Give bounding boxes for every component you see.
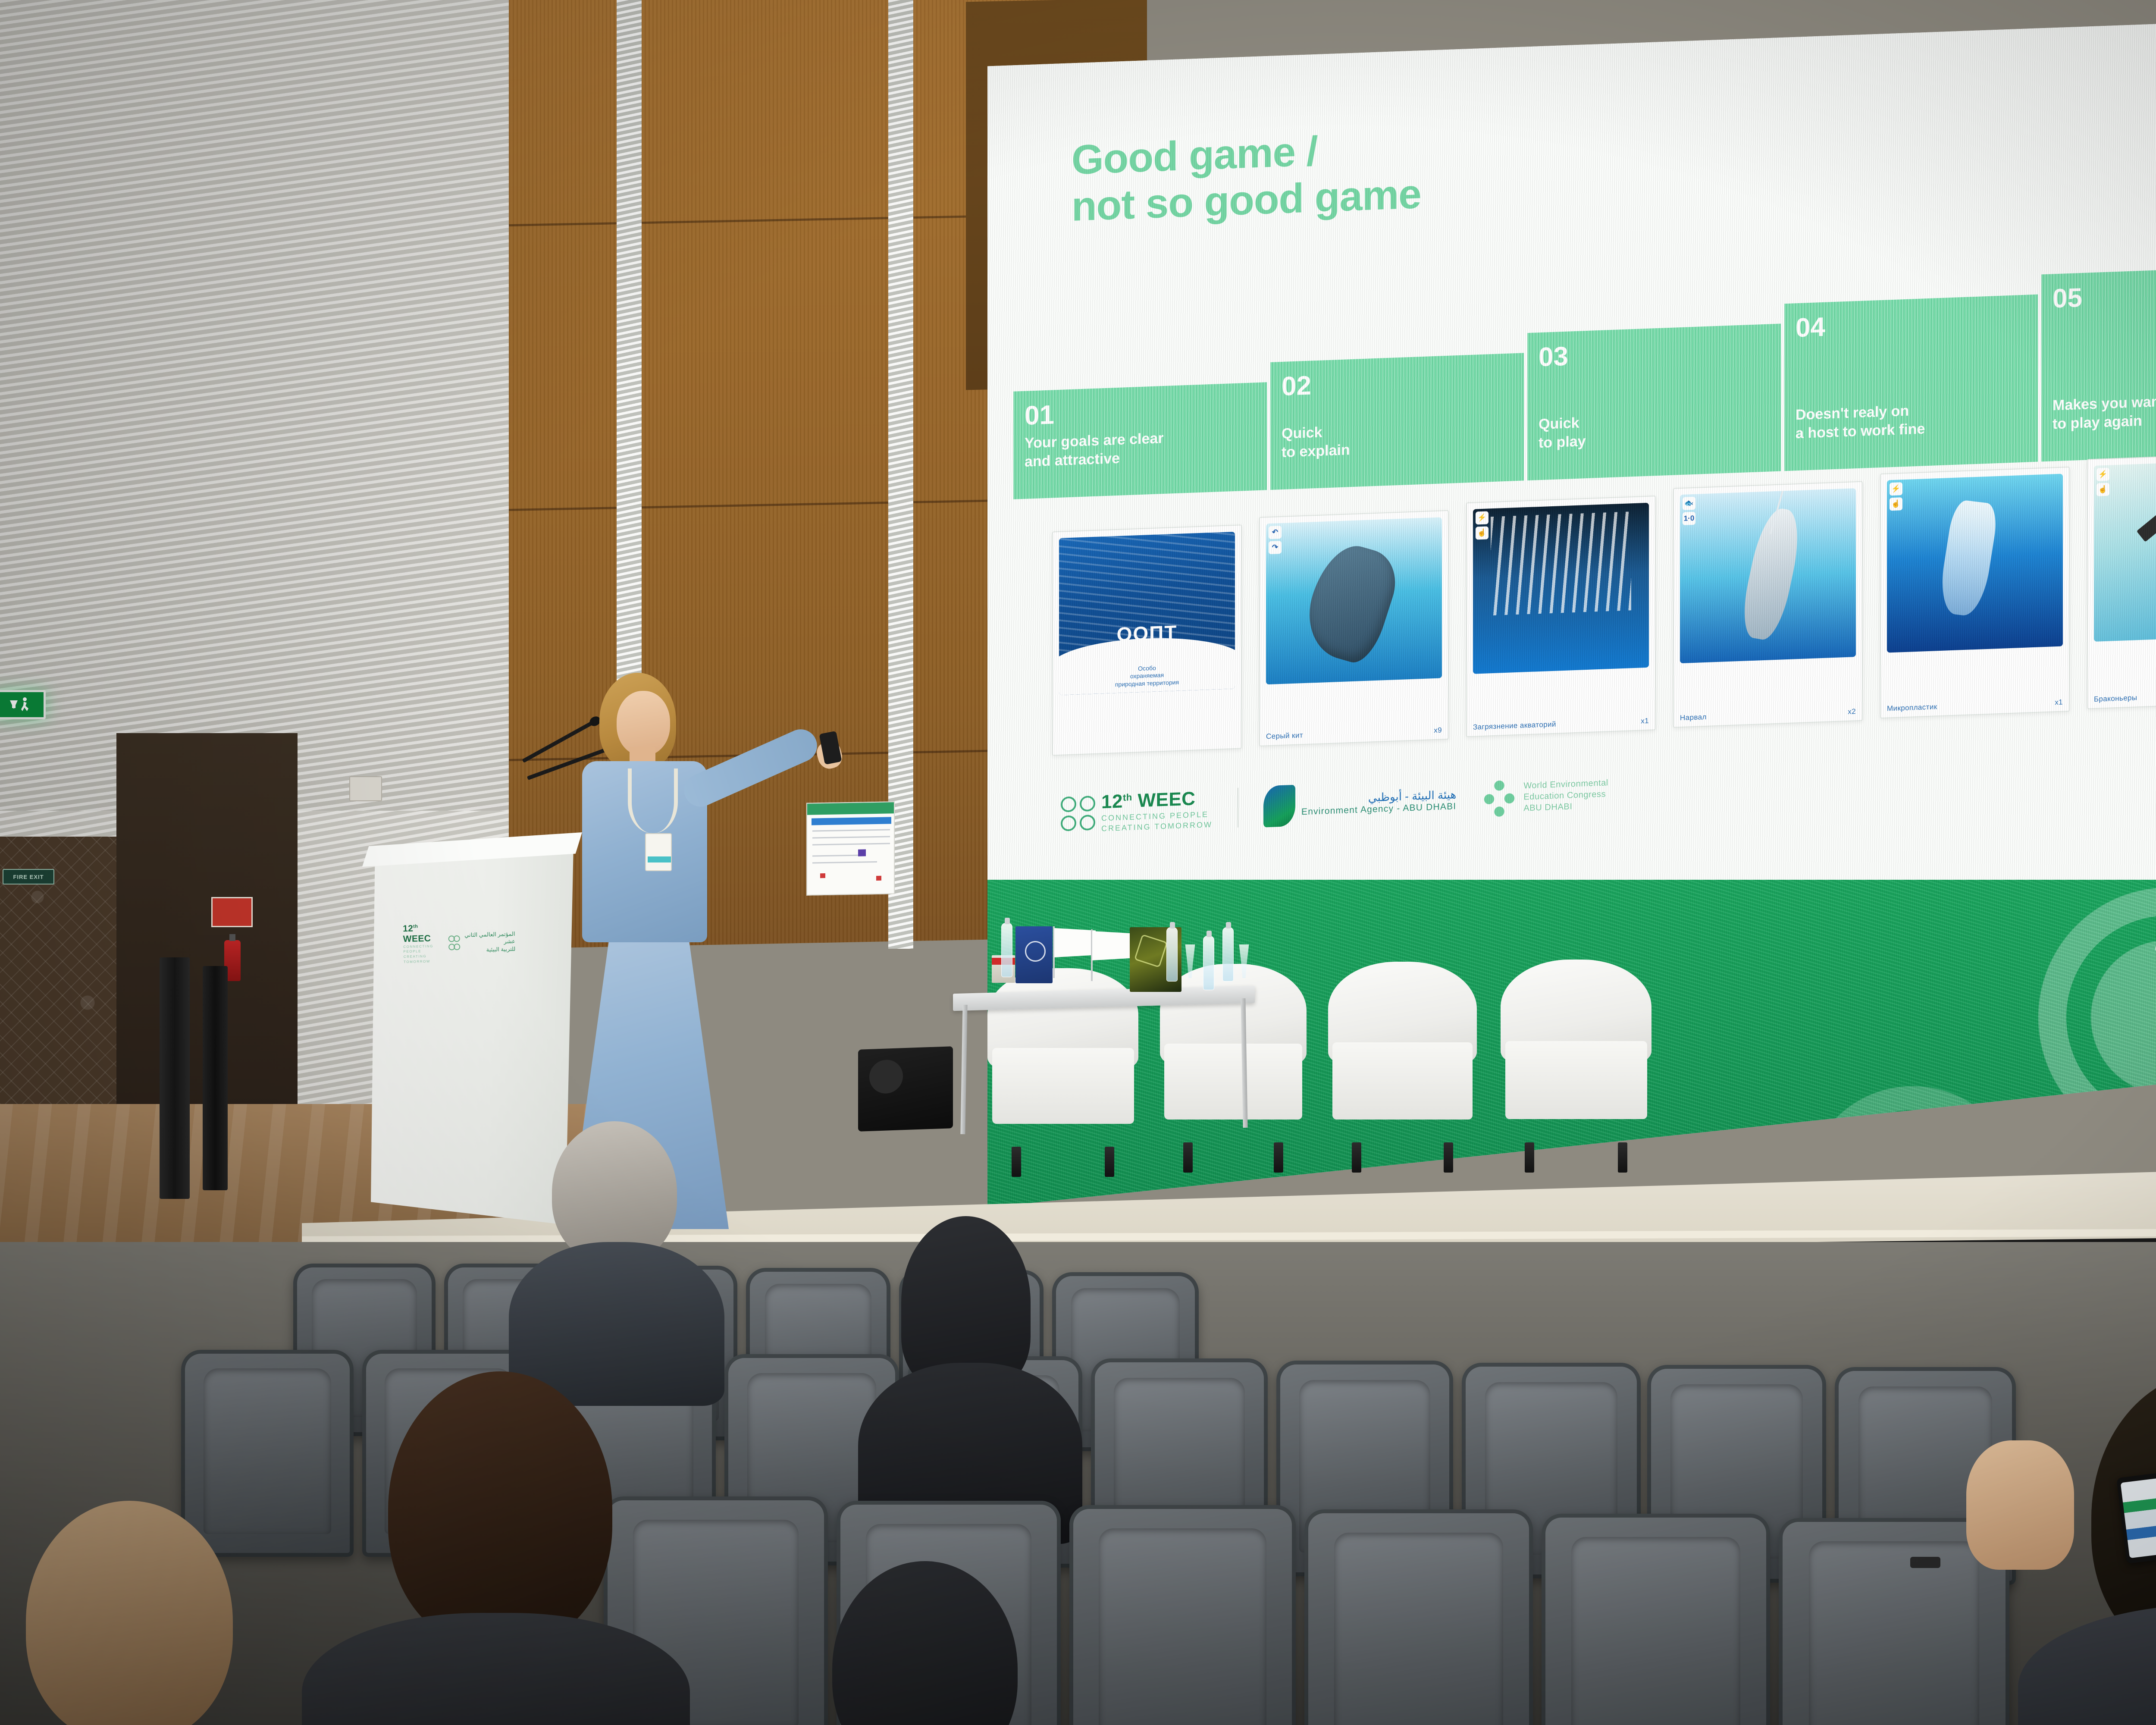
criteria-band: 01Your goals are clearand attractive02Qu… [987, 256, 2156, 500]
card-artwork: ↶↷ [1266, 517, 1442, 684]
card-ability-icons: ⚡☝ [1890, 482, 1902, 511]
weec-sponsor-logo: 12th WEEC CONNECTING PEOPLE CREATING TOM… [1061, 787, 1213, 836]
card-count: x2 [1848, 707, 1856, 716]
fire-extinguisher-sign [211, 897, 253, 927]
fire-exit-plaque: FIRE EXIT [3, 869, 54, 884]
criteria-label: Your goals are clearand attractive [1025, 426, 1253, 470]
audience-head [388, 1371, 612, 1647]
card-artwork: ООПТОсобоохраняемаяприродная территория [1059, 532, 1235, 695]
wall-control-box [349, 776, 382, 801]
card-ability-icon: ☝ [1476, 526, 1489, 539]
criteria-label: Quickto explain [1282, 417, 1510, 461]
audience-wristwatch [1910, 1557, 1940, 1568]
podium-logo-number: 12 [403, 923, 414, 934]
sponsor-logo-row: 12th WEEC CONNECTING PEOPLE CREATING TOM… [1061, 773, 1608, 835]
podium-tagline-2: CREATING TOMORROW [404, 953, 445, 965]
exit-arrow-icon [10, 700, 18, 709]
card-name: Серый кит [1266, 731, 1303, 741]
criteria-step-05: 05Makes you wantto play again [2041, 265, 2156, 462]
criteria-step-02: 02Quickto explain [1270, 353, 1524, 490]
card-ability-icons: ⚡☝ [1476, 511, 1489, 539]
criteria-step-01: 01Your goals are clearand attractive [1013, 382, 1267, 499]
tabletop-blue-box [1015, 926, 1053, 983]
card-caption: Загрязнение акваторийx1 [1473, 717, 1649, 732]
lectern-podium [371, 845, 573, 1225]
presenter-badge [645, 833, 672, 871]
card-caption: Браконьерыx1 [2094, 689, 2156, 704]
criteria-number: 05 [2053, 282, 2082, 314]
card-ability-icon: ⚡ [1476, 511, 1489, 524]
footer-arabic-1: المؤتمر العالمي [1884, 927, 2156, 957]
card-name: Нарвал [1680, 713, 1707, 722]
environment-agency-logo: هيئة البيئة - أبوظبي Environment Agency … [1263, 779, 1456, 827]
podium-logo-name: WEEC [403, 933, 431, 944]
card-ability-icons: 🐟1·0 [1683, 497, 1695, 525]
exit-sign [0, 690, 46, 719]
criteria-number: 01 [1025, 399, 1054, 431]
stage-monitor-speaker [858, 1046, 953, 1132]
card-artwork: 🐟1·0 [1680, 488, 1856, 663]
footer-arabic-text: المؤتمر العالمي للتربية البيئية التواصل … [1884, 927, 2156, 1021]
criteria-label: Makes you wantto play again [2053, 388, 2156, 433]
water-bottle [1222, 927, 1234, 982]
audience-chair [1542, 1514, 1770, 1725]
card-count: x1 [2055, 698, 2063, 707]
pa-speaker-column [203, 966, 228, 1190]
presenter-face [617, 691, 670, 756]
sponsor-divider [1238, 788, 1238, 828]
footer-arabic-2: للتربية البيئية [1884, 961, 2156, 990]
game-card: ⚡☝Микропластикx1 [1880, 467, 2070, 718]
game-card: ⚡☝Загрязнение акваторийx1 [1466, 496, 1656, 737]
slide-title: Good game / not so good game [1072, 124, 1421, 230]
audience-chair [1304, 1509, 1533, 1725]
card-ability-icon: ⚡ [2096, 468, 2109, 481]
card-artwork: ⚡☝ [2094, 459, 2156, 642]
card-count: x1 [1641, 717, 1649, 726]
card-caption [1059, 744, 1235, 750]
presenter-lanyard [628, 768, 678, 833]
card-caption: Серый китx9 [1266, 726, 1442, 741]
podium-weec-logo: 12th WEEC CONNECTING PEOPLE CREATING TOM… [403, 924, 516, 962]
audience-chair [181, 1350, 354, 1557]
podium-circles-icon [448, 935, 461, 950]
card-ability-icon: 1·0 [1683, 512, 1695, 525]
game-card: ⚡☝Браконьерыx1 [2087, 452, 2156, 709]
conference-hall-photo: FIRE EXIT PROTECTED AREAS EMBASSY CHARIT… [0, 0, 2156, 1725]
stage-armchair [1501, 960, 1651, 1145]
criteria-step-04: 04Doesn't realy ona host to work fine [1784, 295, 2038, 471]
card-caption: Нарвалx2 [1680, 707, 1856, 722]
card-name: Браконьеры [2094, 694, 2137, 704]
audience-chair [1069, 1505, 1296, 1725]
card-ability-icon: ⚡ [1890, 482, 1902, 496]
card-ability-icons: ↶↷ [1269, 526, 1282, 554]
podium-logo-sup: th [413, 924, 418, 929]
water-bottle [1001, 923, 1012, 977]
water-bottle [1203, 936, 1214, 990]
criteria-label: Quickto play [1539, 407, 1767, 452]
stage-armchair [1328, 962, 1477, 1145]
criteria-number: 03 [1539, 341, 1568, 373]
podium-arabic-1: المؤتمر العالمي الثاني عشر [464, 930, 516, 947]
game-card-strip: ООПТОсобоохраняемаяприродная территория↶… [1052, 469, 2156, 765]
card-ability-icon: ☝ [1890, 497, 1902, 511]
weec-sup: th [1123, 792, 1132, 803]
weec-circles-icon [1061, 796, 1095, 831]
congress-emblem-icon [1481, 778, 1517, 818]
game-card: 🐟1·0Нарвалx2 [1673, 481, 1863, 728]
game-card: ↶↷Серый китx9 [1259, 510, 1449, 746]
weec-name: WEEC [1138, 788, 1195, 811]
card-artwork: ⚡☝ [1473, 503, 1649, 674]
podium-tagline-1: CONNECTING PEOPLE [403, 944, 445, 955]
card-artwork: ⚡☝ [1887, 474, 2063, 653]
criteria-number: 04 [1796, 312, 1825, 344]
weec-number: 12 [1101, 790, 1123, 812]
card-ability-icon: 🐟 [1683, 497, 1695, 510]
card-ability-icons: ⚡☝ [2096, 468, 2109, 496]
water-bottle [1166, 927, 1178, 982]
running-man-icon [20, 697, 30, 712]
criteria-step-03: 03Quickto play [1527, 324, 1781, 481]
card-ability-icon: ☝ [2096, 483, 2109, 496]
criteria-label: Doesn't realy ona host to work fine [1796, 398, 2024, 442]
card-count: x9 [1434, 726, 1442, 735]
game-card: ООПТОсобоохраняемаяприродная территория [1052, 524, 1242, 756]
podium-arabic-2: للتربية البيئية [464, 945, 515, 954]
card-name: Микропластик [1887, 703, 1937, 713]
card-ability-icon: ↶ [1269, 526, 1282, 539]
footer-arabic-3: التواصل بين الشعوب [1884, 1001, 2156, 1021]
card-caption: Микропластикx1 [1887, 698, 2063, 713]
criteria-number: 02 [1282, 370, 1311, 402]
audience-hand [1966, 1440, 2074, 1570]
agency-leaf-icon [1263, 785, 1295, 828]
card-name: Загрязнение акваторий [1473, 720, 1556, 732]
card-ability-icon: ↷ [1269, 541, 1282, 554]
pa-speaker-column [160, 957, 190, 1199]
world-congress-logo: World Environmental Education Congress A… [1481, 775, 1608, 818]
